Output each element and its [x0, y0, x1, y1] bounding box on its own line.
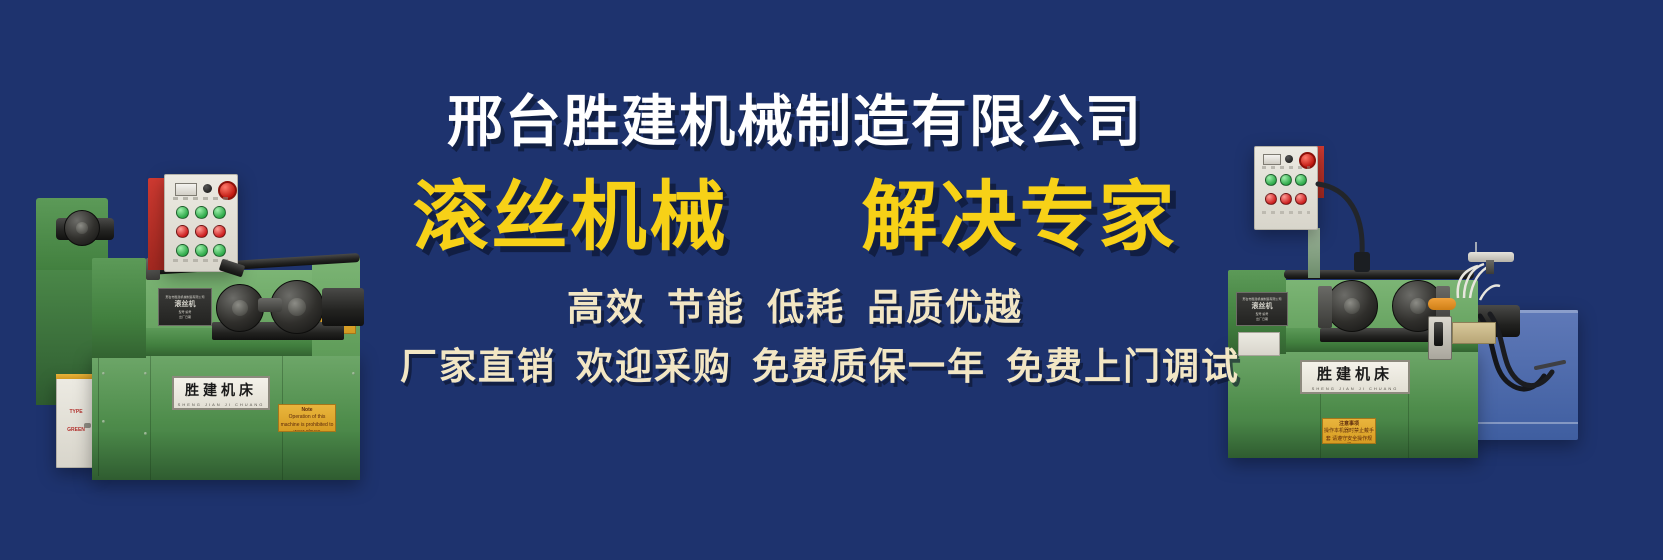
left-spec-line4: 出厂日期: [179, 315, 191, 320]
tagline-2-item-3: 免费上门调试: [1006, 344, 1240, 388]
right-panel-lamp-row-2: [1265, 193, 1307, 205]
right-warning-label: 注意事项 操作本机器时禁止戴手套 请遵守安全操作规程: [1322, 418, 1376, 444]
right-die-guide-left: [1318, 286, 1332, 328]
tagline-1-item-2: 低耗: [767, 285, 845, 329]
left-body-bolt-3: [144, 372, 147, 375]
right-panel-knob: [1285, 155, 1293, 163]
tagline-line-1: 高效节能低耗品质优越: [400, 289, 1190, 326]
right-lower-spec-card: [1238, 332, 1280, 356]
right-lamp-4[interactable]: [1265, 193, 1277, 205]
right-hydraulic-tank-seam: [1470, 422, 1578, 424]
right-control-panel: [1254, 146, 1318, 230]
left-die-roller-1: [216, 284, 264, 332]
left-lamp-3[interactable]: [213, 206, 226, 219]
left-warning-body: Operation of this machine is prohibited …: [280, 414, 334, 432]
left-warning-label: Note Operation of this machine is prohib…: [278, 404, 336, 432]
right-spec-line4: 出厂日期: [1256, 317, 1268, 322]
left-panel-knob: [203, 184, 212, 193]
tagline-1-item-1: 节能: [667, 285, 745, 329]
right-panel-lamp-row-1: [1265, 174, 1307, 186]
left-panel-meter: [175, 183, 197, 196]
left-side-cabinet: TYPE GREEN: [56, 378, 96, 468]
left-lamp-1[interactable]: [176, 206, 189, 219]
right-panel-label-strip: [1262, 166, 1310, 169]
promotional-banner: TYPE GREEN 胜建机床 SHENG JIAN JI CHUANG Not…: [0, 0, 1663, 560]
left-cabinet-handle: [84, 423, 91, 428]
left-rear-roller: [64, 210, 100, 246]
right-spec-model: 滚丝机: [1252, 302, 1273, 313]
left-brand-plate-pinyin: SHENG JIAN JI CHUANG: [178, 402, 265, 407]
left-body-bolt-1: [102, 372, 105, 375]
left-lamp-4[interactable]: [176, 225, 189, 238]
headline-left: 滚丝机械: [413, 172, 729, 261]
right-lamp-2[interactable]: [1280, 174, 1292, 186]
machine-right: 胜建机床 SHENG JIAN JI CHUANG 注意事项 操作本机器时禁止戴…: [1170, 120, 1570, 460]
left-body-seam-2: [150, 352, 151, 480]
left-control-panel: [164, 174, 238, 272]
left-spindle-shaft: [258, 298, 282, 312]
left-brand-plate-cn: 胜建机床: [185, 380, 257, 400]
right-lamp-1[interactable]: [1265, 174, 1277, 186]
right-lamp-6[interactable]: [1295, 193, 1307, 205]
left-column: [92, 258, 146, 358]
left-control-pedestal: [148, 178, 164, 270]
left-body-bolt-4: [144, 432, 147, 435]
right-lamp-3[interactable]: [1295, 174, 1307, 186]
right-top-fixture-stem: [1486, 260, 1494, 274]
machine-left: TYPE GREEN 胜建机床 SHENG JIAN JI CHUANG Not…: [20, 80, 420, 480]
tagline-1-item-3: 品质优越: [867, 285, 1023, 329]
right-brand-plate: 胜建机床 SHENG JIAN JI CHUANG: [1300, 360, 1410, 394]
left-brand-plate: 胜建机床 SHENG JIAN JI CHUANG: [172, 376, 270, 410]
company-name: 邢台胜建机械制造有限公司: [400, 95, 1190, 151]
left-body-bolt-5: [352, 372, 355, 375]
left-panel-lamp-row-1: [176, 206, 226, 219]
left-lamp-6[interactable]: [213, 225, 226, 238]
tagline-2-item-0: 厂家直销: [400, 344, 556, 388]
left-cabinet-text-type: TYPE: [57, 409, 95, 415]
left-lamp-9[interactable]: [213, 244, 226, 257]
tagline-line-2: 厂家直销欢迎采购免费质保一年免费上门调试: [400, 348, 1190, 385]
left-panel-lamp-row-3: [176, 244, 226, 257]
headline-right: 解决专家: [861, 172, 1177, 261]
right-panel-meter: [1263, 154, 1281, 165]
left-spec-model: 滚丝机: [175, 300, 196, 311]
left-lamp-2[interactable]: [195, 206, 208, 219]
left-lamp-5[interactable]: [195, 225, 208, 238]
right-lamp-5[interactable]: [1280, 193, 1292, 205]
tagline-2-item-2: 免费质保一年: [752, 344, 986, 388]
right-valve-core: [1434, 322, 1443, 346]
tagline-1-item-0: 高效: [567, 285, 645, 329]
left-warning-title: Note: [280, 407, 334, 414]
left-body-bolt-2: [102, 420, 105, 423]
right-warning-body: 操作本机器时禁止戴手套 请遵守安全操作规程: [1324, 428, 1374, 444]
right-brand-plate-cn: 胜建机床: [1317, 363, 1393, 384]
left-body-seam-1: [98, 358, 99, 476]
left-motor-housing: [322, 288, 364, 326]
left-spec-plate: 邢台市胜建机械制造有限公司 滚丝机 型号 编号 出厂日期: [158, 288, 212, 326]
headline: 滚丝机械 解决专家: [400, 179, 1190, 255]
left-panel-label-strip: [173, 197, 231, 200]
left-cabinet-top-strip: [56, 374, 94, 379]
left-panel-lamp-row-2: [176, 225, 226, 238]
banner-text-block: 邢台胜建机械制造有限公司 滚丝机械 解决专家 高效节能低耗品质优越 厂家直销欢迎…: [400, 95, 1190, 385]
left-lamp-8[interactable]: [195, 244, 208, 257]
right-panel-cable: [1312, 180, 1392, 290]
right-gold-nameplate: [1452, 322, 1496, 344]
tagline-2-item-1: 欢迎采购: [576, 344, 732, 388]
left-main-body-shade: [92, 432, 360, 480]
right-spec-plate: 邢台市胜建机械制造有限公司 滚丝机 型号 编号 出厂日期: [1236, 292, 1288, 326]
left-lamp-7[interactable]: [176, 244, 189, 257]
right-brand-plate-pinyin: SHENG JIAN JI CHUANG: [1312, 386, 1399, 391]
right-panel-caption-strip: [1262, 211, 1310, 214]
